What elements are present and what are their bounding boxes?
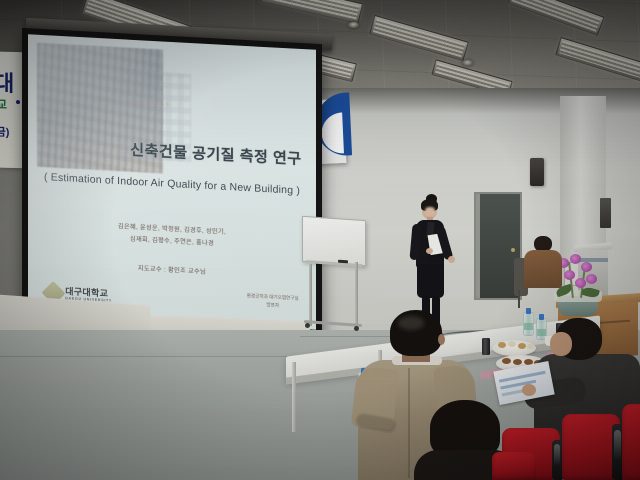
table-leg [292,362,296,432]
armrest-highlight [554,444,560,466]
armrest-highlight [614,430,621,460]
right-hand [448,256,455,263]
hand [522,384,536,396]
jacket-seam [408,368,410,478]
auditorium-seat[interactable] [622,404,640,480]
slide-subtitle: ( Estimation of Indoor Air Quality for a… [40,171,305,197]
floor-seam [0,356,320,357]
banner-left-line2: 교 [0,96,7,113]
orchid-flower [586,274,597,284]
ceiling-downlight [348,22,359,28]
photo-scene: 대 교 (금) 발표회 표회 대구대학교 환경공학과 business 신축건물… [0,0,640,480]
auditorium-seat[interactable] [492,452,536,480]
seated-attendee-brown-jacket [520,236,564,294]
orchid-flower [570,254,581,264]
beverage-can[interactable] [482,338,490,355]
hair-highlight [398,316,424,330]
torso [524,250,562,288]
slide-authors: 김은혜, 윤성운, 박정원, 김경후, 성민기, 심재희, 김평수, 주연은, … [51,217,293,254]
wall-speaker [530,158,544,186]
slide-affiliation: 환경공학과 대기오염연구실 발표자 [247,292,299,310]
door-knob[interactable] [511,248,515,252]
face [550,332,572,356]
slide-advisor: 지도교수 : 황민조 교수님 [51,258,293,280]
skirt [417,264,444,298]
orchid-flower [564,270,575,280]
door-jamb [476,194,480,298]
whiteboard-marker[interactable] [338,260,348,264]
banner-left-line3: (금) [0,123,9,139]
ear [438,334,445,345]
chair-leg [518,290,520,308]
whiteboard-leg [309,264,312,326]
whiteboard-caster [305,323,310,328]
orchid-flower [581,262,592,272]
left-hand [426,248,433,254]
projected-slide: business 신축건물 공기질 측정 연구 ( Estimation of … [28,34,316,330]
whiteboard-surface[interactable] [302,216,366,266]
wall-mounted-box [600,198,611,228]
snack-item [498,342,506,348]
face [425,207,435,216]
slide-photo-word: business [131,100,171,108]
snack-item [502,358,511,364]
orchid-flower [575,278,586,288]
ceiling-downlight [462,60,473,66]
